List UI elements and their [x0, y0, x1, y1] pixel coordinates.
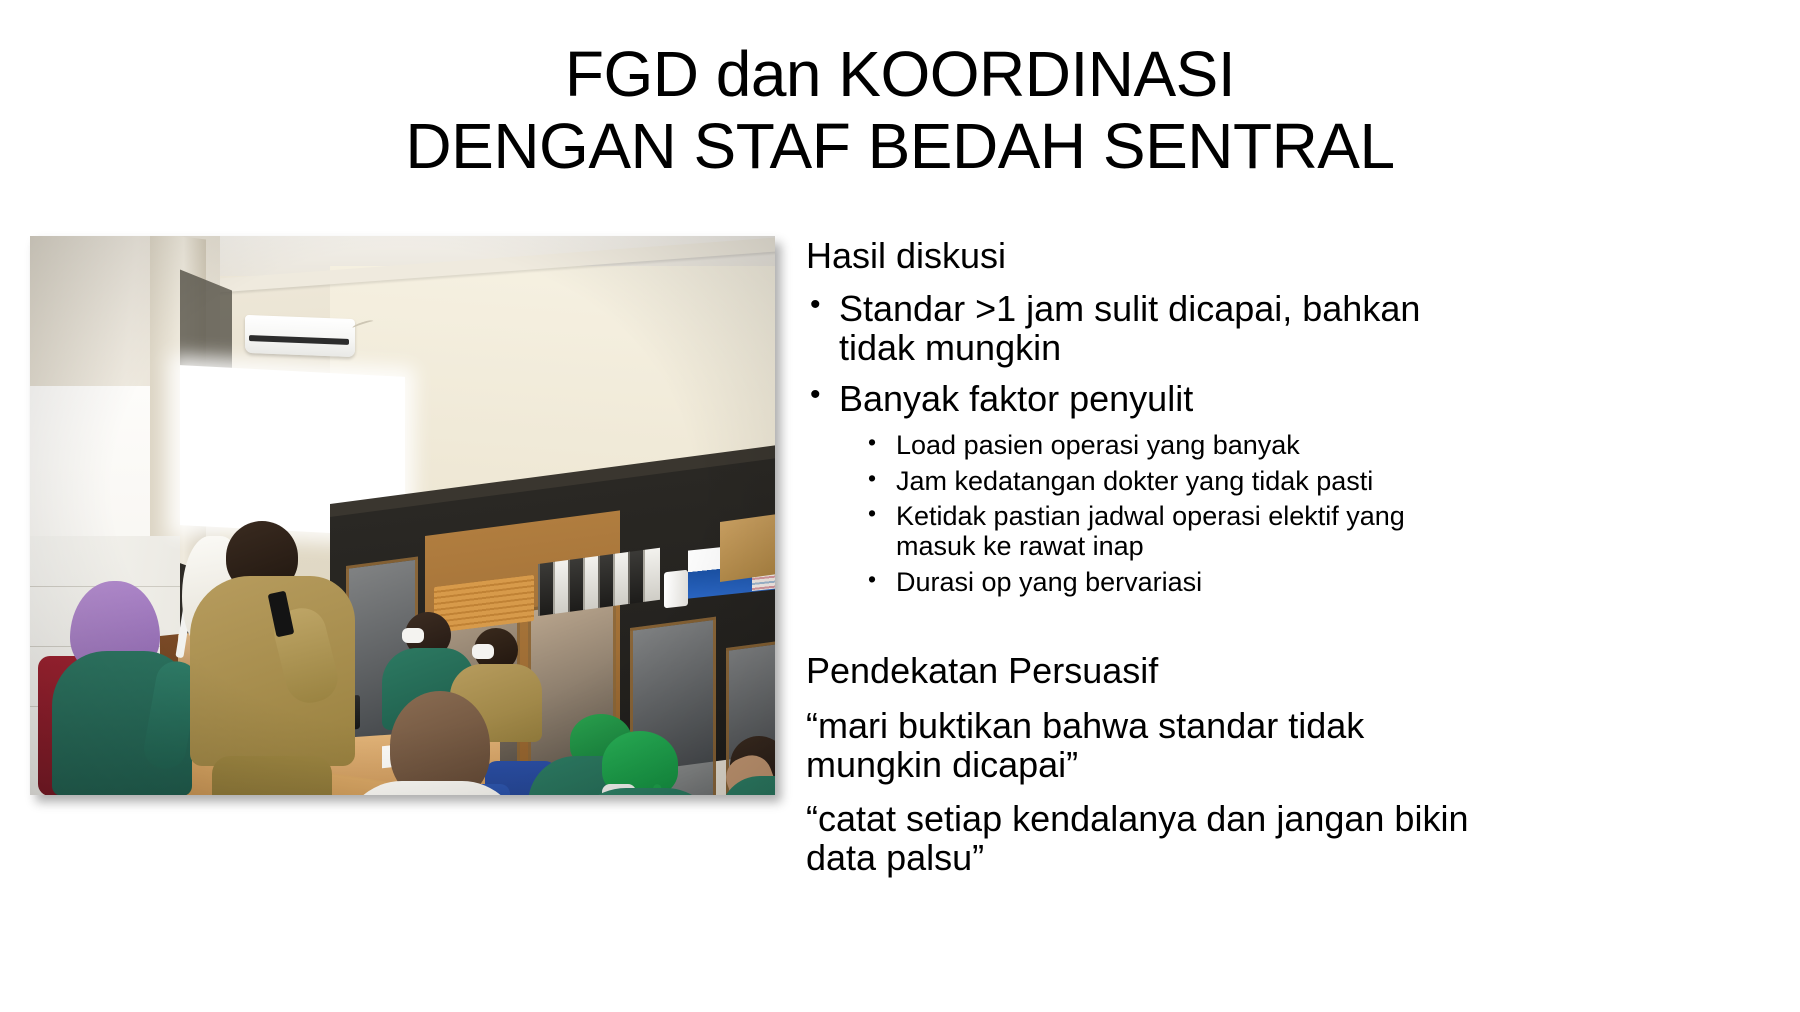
content-spacer	[806, 603, 1486, 651]
page-title: FGD dan KOORDINASI DENGAN STAF BEDAH SEN…	[60, 38, 1740, 183]
quote-text: “catat setiap kendalanya dan jangan biki…	[806, 799, 1486, 878]
photo-person-khaki-legs	[212, 756, 332, 795]
photo-tissue-roll	[664, 570, 688, 609]
photo-canvas	[30, 236, 775, 795]
section-heading-hasil-diskusi: Hasil diskusi	[806, 236, 1486, 276]
sub-bullet-item: Load pasien operasi yang banyak	[806, 431, 1486, 461]
photo-cardboard-box	[720, 510, 775, 582]
meeting-photo	[30, 236, 775, 795]
sub-bullet-item: Durasi op yang bervariasi	[806, 568, 1486, 598]
photo-face-mask	[402, 628, 424, 643]
bullet-item: Banyak faktor penyulit	[806, 380, 1486, 419]
sub-bullet-item: Ketidak pastian jadwal operasi elektif y…	[806, 502, 1486, 561]
bullet-list: Standar >1 jam sulit dicapai, bahkan tid…	[806, 290, 1486, 597]
quote-text: “mari buktikan bahwa standar tidak mungk…	[806, 706, 1486, 785]
photo-person-foreground-head	[390, 691, 490, 795]
photo-face-mask	[472, 644, 494, 659]
sub-bullet-item: Jam kedatangan dokter yang tidak pasti	[806, 467, 1486, 497]
bullet-item: Standar >1 jam sulit dicapai, bahkan tid…	[806, 290, 1486, 368]
photo-binder	[643, 548, 660, 602]
slide-canvas: FGD dan KOORDINASI DENGAN STAF BEDAH SEN…	[0, 0, 1800, 1012]
content-body: Hasil diskusi Standar >1 jam sulit dicap…	[806, 236, 1486, 892]
section-heading-pendekatan-persuasif: Pendekatan Persuasif	[806, 651, 1486, 691]
sub-bullet-list: Load pasien operasi yang banyak Jam keda…	[806, 431, 1486, 597]
